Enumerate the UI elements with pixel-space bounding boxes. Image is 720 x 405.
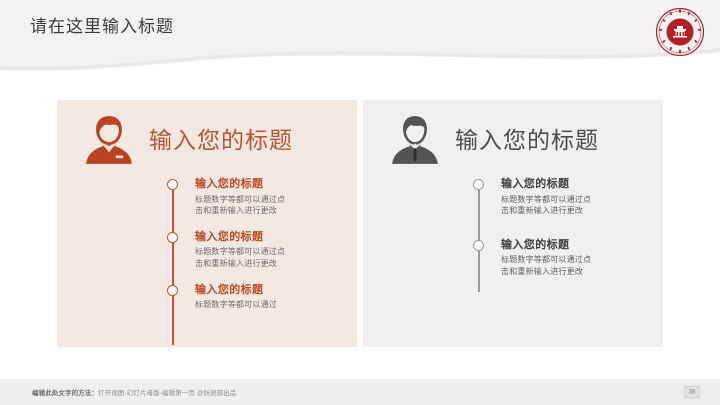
- footer-note: 编辑此处文字的方法：打开视图-幻灯片母版-编辑第一页 @妖娆部出品: [32, 387, 237, 397]
- header-band: [0, 0, 720, 72]
- female-person-icon: [83, 112, 135, 168]
- list-item[interactable]: 输入您的标题 标题数字等都可以通过: [167, 284, 343, 311]
- panel-left-timeline: 输入您的标题 标题数字等都可以通过点击和重新输入进行更改 输入您的标题 标题数字…: [167, 178, 343, 311]
- panel-left: 输入您的标题 输入您的标题 标题数字等都可以通过点击和重新输入进行更改 输入您的…: [57, 100, 357, 347]
- male-person-icon: [389, 112, 441, 168]
- list-item-title: 输入您的标题: [501, 239, 649, 252]
- timeline-marker-icon: [473, 240, 486, 253]
- list-item[interactable]: 输入您的标题 标题数字等都可以通过点击和重新输入进行更改: [167, 231, 343, 270]
- university-seal-logo: [655, 7, 705, 57]
- footer-note-label: 编辑此处文字的方法：: [32, 390, 98, 397]
- panel-left-header: 输入您的标题: [83, 112, 293, 168]
- list-item-title: 输入您的标题: [501, 178, 649, 191]
- footer-note-text: 打开视图-幻灯片母版-编辑第一页 @妖娆部出品: [98, 390, 237, 397]
- list-item-title: 输入您的标题: [195, 231, 343, 244]
- page-number-badge: 38: [684, 386, 700, 399]
- list-item[interactable]: 输入您的标题 标题数字等都可以通过点击和重新输入进行更改: [473, 239, 649, 278]
- panel-left-title: 输入您的标题: [149, 129, 293, 152]
- content-panels: 输入您的标题 输入您的标题 标题数字等都可以通过点击和重新输入进行更改 输入您的…: [57, 100, 663, 347]
- list-item-body: 标题数字等都可以通过: [195, 299, 330, 311]
- list-item[interactable]: 输入您的标题 标题数字等都可以通过点击和重新输入进行更改: [473, 178, 649, 217]
- page-title: 请在这里输入标题: [30, 18, 174, 35]
- panel-right-timeline: 输入您的标题 标题数字等都可以通过点击和重新输入进行更改 输入您的标题 标题数字…: [473, 178, 649, 278]
- footer-bar: 编辑此处文字的方法：打开视图-幻灯片母版-编辑第一页 @妖娆部出品 38: [0, 379, 720, 405]
- timeline-marker-icon: [167, 232, 180, 245]
- list-item-title: 输入您的标题: [195, 178, 343, 191]
- list-item-body: 标题数字等都可以通过点击和重新输入进行更改: [501, 254, 636, 277]
- list-item-body: 标题数字等都可以通过点击和重新输入进行更改: [195, 194, 330, 217]
- panel-right-header: 输入您的标题: [389, 112, 599, 168]
- panel-right: 输入您的标题 输入您的标题 标题数字等都可以通过点击和重新输入进行更改 输入您的…: [363, 100, 663, 347]
- list-item-body: 标题数字等都可以通过点击和重新输入进行更改: [195, 246, 330, 269]
- timeline-marker-icon: [167, 179, 180, 192]
- timeline-marker-icon: [473, 179, 486, 192]
- timeline-marker-icon: [167, 285, 180, 298]
- panel-right-title: 输入您的标题: [455, 129, 599, 152]
- list-item-body: 标题数字等都可以通过点击和重新输入进行更改: [501, 194, 636, 217]
- list-item-title: 输入您的标题: [195, 284, 343, 297]
- list-item[interactable]: 输入您的标题 标题数字等都可以通过点击和重新输入进行更改: [167, 178, 343, 217]
